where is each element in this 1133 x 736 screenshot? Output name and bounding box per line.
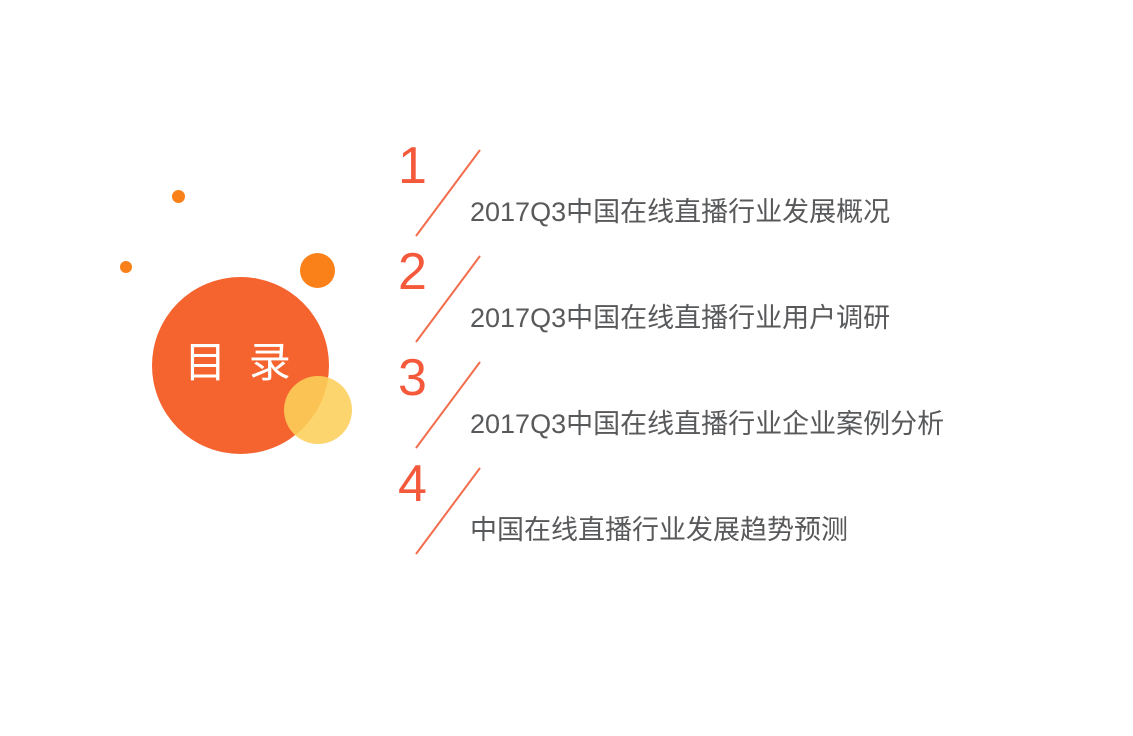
- toc-item[interactable]: 4 中国在线直播行业发展趋势预测: [398, 458, 1098, 564]
- table-of-contents-circle: 目 录: [152, 277, 329, 454]
- toc-item[interactable]: 3 2017Q3中国在线直播行业企业案例分析: [398, 352, 1098, 458]
- toc-item-label: 2017Q3中国在线直播行业企业案例分析: [470, 408, 944, 440]
- toc-list: 1 2017Q3中国在线直播行业发展概况 2 2017Q3中国在线直播行业用户调…: [398, 140, 1098, 564]
- small-dot-a-shape: [172, 190, 185, 203]
- toc-item[interactable]: 1 2017Q3中国在线直播行业发展概况: [398, 140, 1098, 246]
- toc-item-label: 2017Q3中国在线直播行业发展概况: [470, 196, 890, 228]
- slide-canvas: 目 录 1 2017Q3中国在线直播行业发展概况 2 2017Q3中国在线直播行…: [0, 0, 1133, 736]
- toc-item-label: 中国在线直播行业发展趋势预测: [470, 514, 848, 546]
- decoration-cluster: 目 录: [0, 0, 420, 736]
- toc-item[interactable]: 2 2017Q3中国在线直播行业用户调研: [398, 246, 1098, 352]
- small-dot-b-shape: [120, 261, 132, 273]
- accent-circle-shape: [284, 376, 352, 444]
- toc-item-label: 2017Q3中国在线直播行业用户调研: [470, 302, 890, 334]
- medium-dot-shape: [300, 253, 335, 288]
- table-of-contents-circle-label: 目 录: [184, 343, 297, 385]
